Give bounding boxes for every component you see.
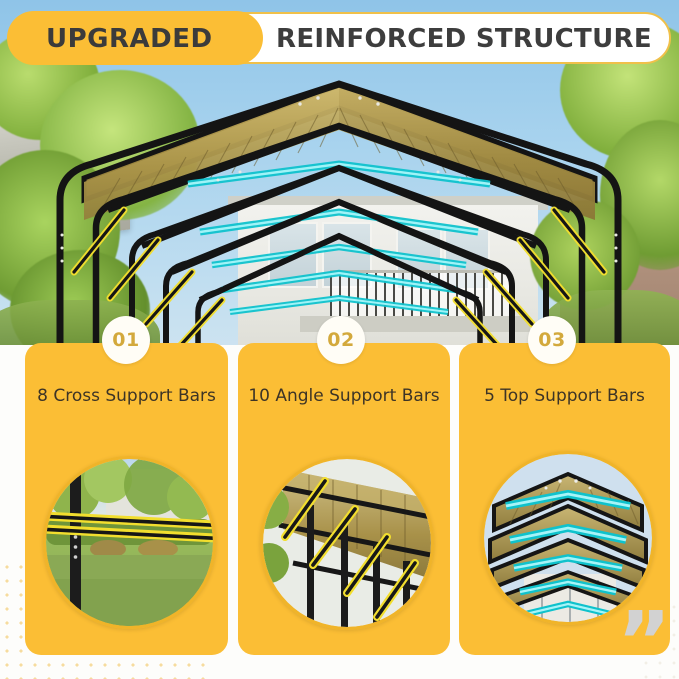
header-banner: UPGRADED REINFORCED STRUCTURE	[8, 12, 671, 64]
cross-support-bar-closeup	[43, 456, 216, 629]
angle-support-bar-closeup	[260, 456, 434, 630]
feature-card-2[interactable]: 10 Angle Support Bars	[238, 343, 450, 655]
quote-mark-icon: ”	[617, 620, 671, 665]
feature-card-3-title: 5 Top Support Bars	[467, 385, 662, 408]
banner-title: REINFORCED STRUCTURE	[276, 24, 656, 54]
step-badge-1: 01	[102, 316, 150, 364]
feature-card-1[interactable]: 8 Cross Support Bars	[25, 343, 228, 655]
step-badge-2-number: 02	[327, 329, 354, 351]
step-badge-3: 03	[528, 316, 576, 364]
step-badge-1-number: 01	[112, 329, 139, 351]
step-badge-2: 02	[317, 316, 365, 364]
feature-card-1-title: 8 Cross Support Bars	[33, 385, 220, 408]
feature-card-2-title: 10 Angle Support Bars	[246, 385, 442, 408]
step-badge-3-number: 03	[538, 329, 565, 351]
poster-canvas: UPGRADED REINFORCED STRUCTURE 8 Cross Su…	[0, 0, 679, 679]
banner-tag-label: UPGRADED	[46, 24, 236, 54]
